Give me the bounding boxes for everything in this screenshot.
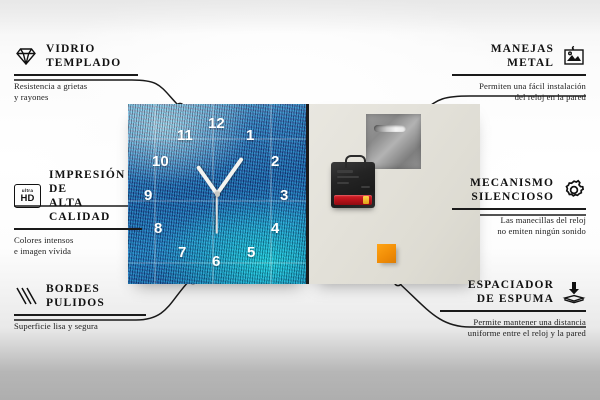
feature-heading: MECANISMO SILENCIOSO — [452, 176, 586, 204]
quartz-mechanism — [331, 162, 375, 208]
clock-numeral-1: 1 — [246, 128, 254, 143]
feature-title: MANEJAS METAL — [491, 42, 554, 70]
product-image: 12 1 2 3 4 5 6 7 8 9 10 11 — [128, 104, 480, 284]
clock-numeral-8: 8 — [154, 221, 162, 236]
feature-manejas-metal: MANEJAS METAL Permiten una fácil instala… — [452, 42, 586, 104]
feature-description: Colores intensos e imagen vívida — [14, 235, 142, 258]
feature-title: ESPACIADOR DE ESPUMA — [468, 278, 554, 306]
clock-numeral-7: 7 — [178, 245, 186, 260]
feature-heading: ultra HD IMPRESIÓN DE ALTA CALIDAD — [14, 168, 142, 224]
clock-numeral-10: 10 — [152, 154, 169, 169]
divider — [452, 74, 586, 76]
clock-numeral-12: 12 — [208, 116, 225, 131]
mechanism-detail — [337, 170, 353, 173]
feature-title: MECANISMO SILENCIOSO — [470, 176, 554, 204]
clock-numeral-4: 4 — [271, 221, 279, 236]
clock-numeral-5: 5 — [247, 245, 255, 260]
feature-heading: ESPACIADOR DE ESPUMA — [440, 278, 586, 306]
mechanism-detail — [337, 176, 359, 178]
diamond-icon — [14, 44, 38, 68]
feature-description: Las manecillas del reloj no emiten ningú… — [452, 215, 586, 238]
feature-title: VIDRIO TEMPLADO — [46, 42, 121, 70]
battery — [334, 195, 372, 205]
hanger-loop-icon — [345, 155, 366, 168]
infographic-canvas: 12 1 2 3 4 5 6 7 8 9 10 11 — [0, 0, 600, 400]
clock-numeral-11: 11 — [177, 128, 193, 143]
mechanism-detail — [337, 182, 349, 184]
feature-heading: VIDRIO TEMPLADO — [14, 42, 138, 70]
feature-description: Superficie lisa y segura — [14, 321, 146, 333]
clock-hour-hand — [196, 165, 219, 195]
feature-vidrio-templado: VIDRIO TEMPLADO Resistencia a grietas y … — [14, 42, 138, 104]
feature-mecanismo-silencioso: MECANISMO SILENCIOSO Las manecillas del … — [452, 176, 586, 238]
foam-spacer-icon — [562, 280, 586, 304]
clock-minute-hand — [215, 157, 244, 195]
divider — [14, 74, 138, 76]
ultra-hd-icon-main-label: HD — [20, 194, 34, 204]
feature-title: IMPRESIÓN DE ALTA CALIDAD — [49, 168, 142, 224]
metal-hanger-bracket — [366, 114, 421, 169]
feature-title: BORDES PULIDOS — [46, 282, 105, 310]
feature-description: Permiten una fácil instalación del reloj… — [452, 81, 586, 104]
feature-heading: BORDES PULIDOS — [14, 282, 146, 310]
divider — [14, 314, 146, 316]
mechanism-detail — [361, 186, 370, 188]
divider — [14, 228, 142, 230]
polished-edges-icon — [14, 284, 38, 308]
divider — [452, 208, 586, 210]
feature-espaciador-espuma: ESPACIADOR DE ESPUMA Permite mantener un… — [440, 278, 586, 340]
ultra-hd-icon: ultra HD — [14, 184, 41, 208]
feature-heading: MANEJAS METAL — [452, 42, 586, 70]
feature-bordes-pulidos: BORDES PULIDOS Superficie lisa y segura — [14, 282, 146, 332]
feature-description: Resistencia a grietas y rayones — [14, 81, 138, 104]
clock-face: 12 1 2 3 4 5 6 7 8 9 10 11 — [128, 104, 309, 284]
clock-center-pin — [215, 192, 220, 197]
divider — [440, 310, 586, 312]
foam-spacer — [377, 244, 396, 263]
clock-numeral-2: 2 — [271, 154, 279, 169]
clock-numeral-3: 3 — [280, 188, 288, 203]
feature-impresion-alta-calidad: ultra HD IMPRESIÓN DE ALTA CALIDAD Color… — [14, 168, 142, 258]
framed-picture-icon — [562, 44, 586, 68]
clock-numeral-9: 9 — [144, 188, 152, 203]
clock-second-hand — [216, 194, 218, 234]
gear-icon — [562, 178, 586, 202]
feature-description: Permite mantener una distancia uniforme … — [440, 317, 586, 340]
clock-numeral-6: 6 — [212, 254, 220, 269]
